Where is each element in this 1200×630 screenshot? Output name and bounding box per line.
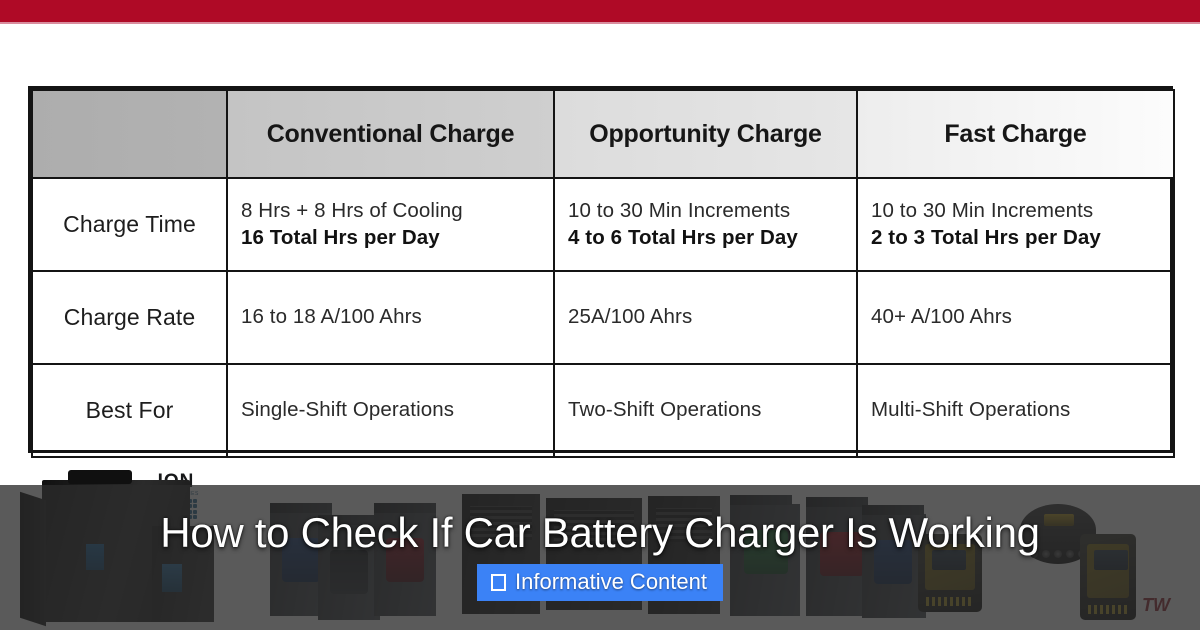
- cell-best-for-fast: Multi-Shift Operations: [857, 364, 1174, 457]
- table-row: Best For Single-Shift Operations Two-Shi…: [32, 364, 1174, 457]
- row-label-charge-time: Charge Time: [32, 178, 227, 271]
- cell-line-primary: Multi-Shift Operations: [871, 397, 1173, 423]
- table-header-opportunity: Opportunity Charge: [554, 90, 857, 178]
- cell-line-primary: 8 Hrs + 8 Hrs of Cooling: [241, 198, 553, 224]
- cell-line-primary: 10 to 30 Min Increments: [871, 198, 1173, 224]
- cell-charge-rate-fast: 40+ A/100 Ahrs: [857, 271, 1174, 364]
- table-header-opportunity-label: Opportunity Charge: [555, 120, 856, 149]
- cell-line-primary: Two-Shift Operations: [568, 397, 856, 423]
- cell-best-for-opportunity: Two-Shift Operations: [554, 364, 857, 457]
- row-label-best-for: Best For: [32, 364, 227, 457]
- cell-charge-time-opportunity: 10 to 30 Min Increments 4 to 6 Total Hrs…: [554, 178, 857, 271]
- cell-line-primary: 40+ A/100 Ahrs: [871, 304, 1173, 330]
- cell-charge-time-conventional: 8 Hrs + 8 Hrs of Cooling 16 Total Hrs pe…: [227, 178, 554, 271]
- status-badge-label: Informative Content: [515, 569, 707, 595]
- cell-best-for-conventional: Single-Shift Operations: [227, 364, 554, 457]
- table-header-conventional: Conventional Charge: [227, 90, 554, 178]
- table-header-fast-label: Fast Charge: [858, 120, 1173, 149]
- table-row: Charge Rate 16 to 18 A/100 Ahrs 25A/100 …: [32, 271, 1174, 364]
- charge-comparison-table: Conventional Charge Opportunity Charge F…: [28, 86, 1173, 453]
- cell-charge-rate-opportunity: 25A/100 Ahrs: [554, 271, 857, 364]
- cell-line-primary: 10 to 30 Min Increments: [568, 198, 856, 224]
- row-label-charge-rate: Charge Rate: [32, 271, 227, 364]
- top-red-banner: [0, 0, 1200, 22]
- cell-charge-rate-conventional: 16 to 18 A/100 Ahrs: [227, 271, 554, 364]
- table-header-corner: [32, 90, 227, 178]
- table-header-conventional-label: Conventional Charge: [228, 120, 553, 149]
- table-row: Charge Time 8 Hrs + 8 Hrs of Cooling 16 …: [32, 178, 1174, 271]
- status-badge: Informative Content: [477, 564, 723, 601]
- cell-line-emphasis: 4 to 6 Total Hrs per Day: [568, 224, 856, 251]
- table-header-fast: Fast Charge: [857, 90, 1174, 178]
- cell-line-primary: Single-Shift Operations: [241, 397, 553, 423]
- badge-row: Informative Content: [0, 564, 1200, 601]
- content-type-icon: [491, 574, 506, 591]
- top-banner-underline: [0, 22, 1200, 24]
- page-root: Conventional Charge Opportunity Charge F…: [0, 0, 1200, 630]
- cell-line-primary: 25A/100 Ahrs: [568, 304, 856, 330]
- cell-line-primary: 16 to 18 A/100 Ahrs: [241, 304, 553, 330]
- dark-overlay: [0, 485, 1200, 630]
- table-header-row: Conventional Charge Opportunity Charge F…: [32, 90, 1174, 178]
- cell-line-emphasis: 2 to 3 Total Hrs per Day: [871, 224, 1173, 251]
- cell-charge-time-fast: 10 to 30 Min Increments 2 to 3 Total Hrs…: [857, 178, 1174, 271]
- cell-line-emphasis: 16 Total Hrs per Day: [241, 224, 553, 251]
- page-title: How to Check If Car Battery Charger Is W…: [0, 509, 1200, 557]
